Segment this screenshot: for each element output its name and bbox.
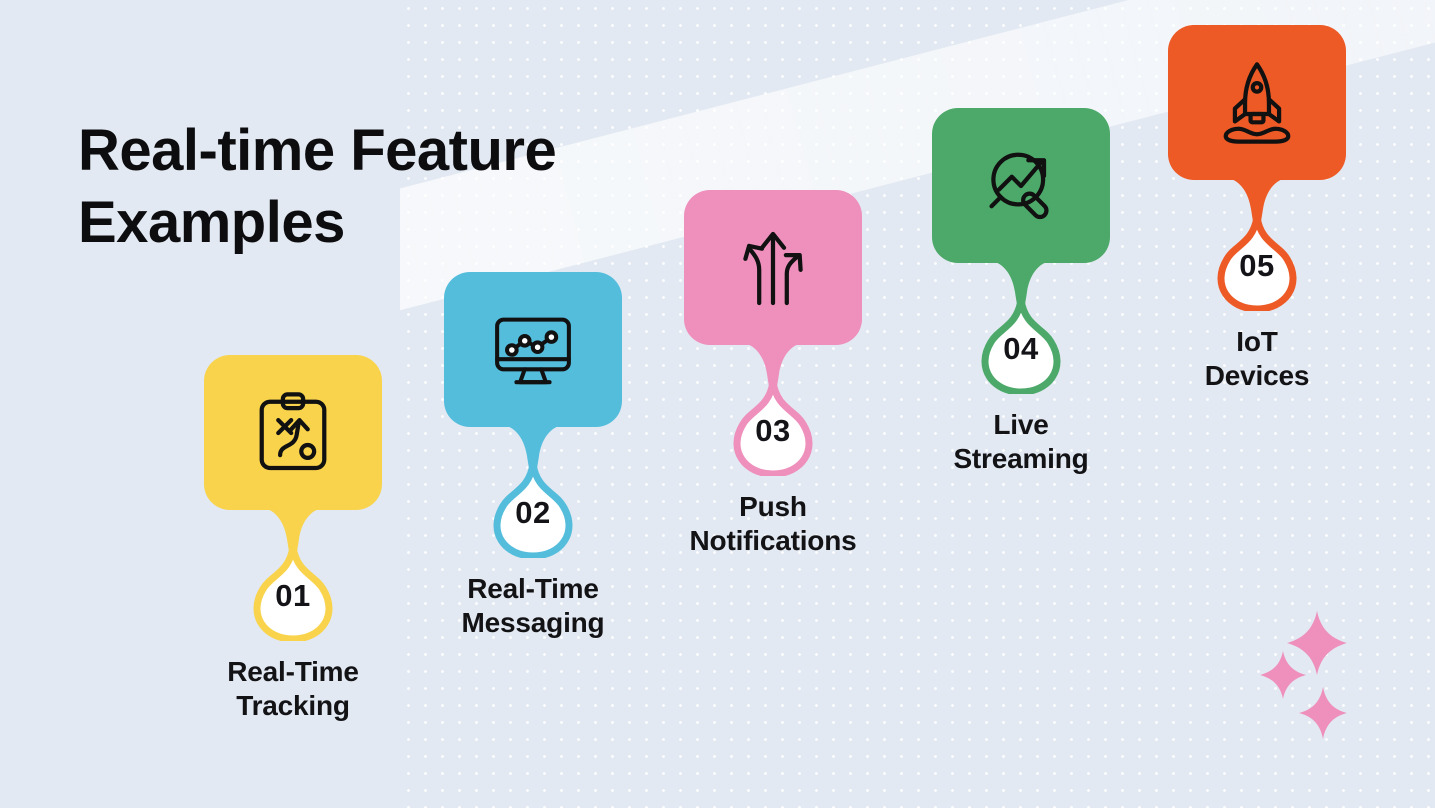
step-label-01-line-2: Tracking [236,690,350,721]
step-number-02: 02 [485,462,581,558]
sparkle-icon-left [1260,651,1306,699]
step-label-02: Real-Time Messaging [418,572,648,640]
diverging-arrows-icon [727,222,819,314]
step-item-02[interactable]: 02 Real-Time Messaging [418,272,648,640]
rocket-launch-icon [1211,57,1303,149]
step-label-04-line-2: Streaming [953,443,1088,474]
step-label-05-line-2: Devices [1205,360,1309,391]
step-number-04: 04 [973,298,1069,394]
step-number-badge-01[interactable]: 01 [245,545,341,641]
step-number-badge-03[interactable]: 03 [725,380,821,476]
page-title-line-2: Examples [78,190,345,255]
page-title-line-1: Real-time Feature [78,118,556,183]
step-number-03: 03 [725,380,821,476]
step-card-02[interactable] [444,272,622,427]
step-item-04[interactable]: 04 Live Streaming [906,108,1136,476]
step-number-badge-04[interactable]: 04 [973,298,1069,394]
page-title: Real-time Feature Examples [78,115,556,259]
step-number-badge-05[interactable]: 05 [1209,215,1305,311]
step-item-05[interactable]: 05 IoT Devices [1142,25,1372,393]
step-label-05: IoT Devices [1142,325,1372,393]
monitor-analytics-icon [487,304,579,396]
step-label-02-line-2: Messaging [462,607,605,638]
magnifier-growth-icon [975,140,1067,232]
step-card-05[interactable] [1168,25,1346,180]
step-number-05: 05 [1209,215,1305,311]
step-card-03[interactable] [684,190,862,345]
step-label-02-line-1: Real-Time [467,573,599,604]
sparkle-icon-top [1287,611,1347,675]
step-label-01-line-1: Real-Time [227,656,359,687]
infographic-canvas: Real-time Feature Examples 01 [0,0,1435,808]
step-label-05-line-1: IoT [1236,326,1277,357]
step-label-03-line-1: Push [739,491,807,522]
step-label-04: Live Streaming [906,408,1136,476]
step-number-01: 01 [245,545,341,641]
step-item-03[interactable]: 03 Push Notifications [658,190,888,558]
step-label-01: Real-Time Tracking [178,655,408,723]
clipboard-strategy-icon [247,387,339,479]
step-label-04-line-1: Live [993,409,1048,440]
sparkle-icon-bottom [1299,687,1347,739]
step-label-03-line-2: Notifications [690,525,857,556]
sparkle-decoration-group [1255,605,1385,745]
step-item-01[interactable]: 01 Real-Time Tracking [178,355,408,723]
step-card-04[interactable] [932,108,1110,263]
step-number-badge-02[interactable]: 02 [485,462,581,558]
step-label-03: Push Notifications [658,490,888,558]
step-card-01[interactable] [204,355,382,510]
